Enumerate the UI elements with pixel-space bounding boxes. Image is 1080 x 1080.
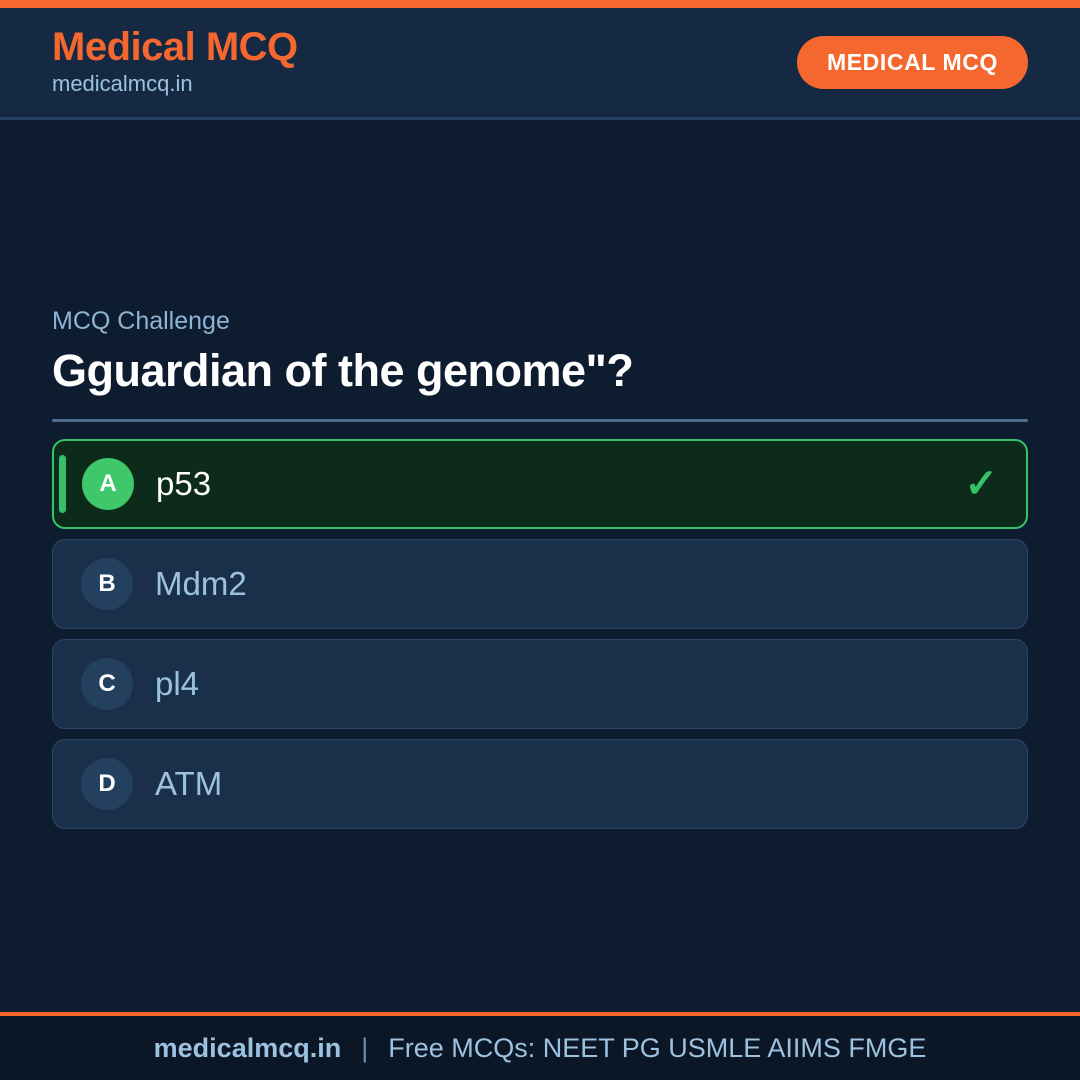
- option-text: p53: [156, 464, 211, 504]
- footer-separator: |: [361, 1033, 368, 1064]
- top-accent-rule: [0, 0, 1080, 8]
- option-letter-badge: B: [81, 558, 133, 610]
- option-letter-badge: C: [81, 658, 133, 710]
- option-text: Mdm2: [155, 564, 247, 604]
- brand-logo: Medical MCQ medicalmcq.in: [52, 26, 298, 99]
- option-text: pl4: [155, 664, 199, 704]
- option-a[interactable]: A p53 ✓: [52, 439, 1028, 529]
- brand-title: Medical MCQ: [52, 26, 298, 68]
- footer-exams: Free MCQs: NEET PG USMLE AIIMS FMGE: [388, 1033, 926, 1064]
- option-c[interactable]: C pl4 ✓: [52, 639, 1028, 729]
- correct-accent-bar: [59, 455, 66, 513]
- question-title: Gguardian of the genome"?: [52, 344, 1028, 397]
- option-b[interactable]: B Mdm2 ✓: [52, 539, 1028, 629]
- check-icon: ✓: [964, 464, 998, 504]
- options-list: A p53 ✓ B Mdm2 ✓ C pl4 ✓ D ATM ✓: [52, 439, 1028, 829]
- page-footer: medicalmcq.in | Free MCQs: NEET PG USMLE…: [0, 1012, 1080, 1080]
- question-stage: MCQ Challenge Gguardian of the genome"? …: [0, 123, 1080, 1012]
- eyebrow-label: MCQ Challenge: [52, 306, 1028, 337]
- page-header: Medical MCQ medicalmcq.in MEDICAL MCQ: [0, 8, 1080, 120]
- brand-url: medicalmcq.in: [52, 70, 298, 99]
- footer-site: medicalmcq.in: [154, 1033, 342, 1064]
- header-badge: MEDICAL MCQ: [797, 36, 1028, 89]
- option-letter-badge: D: [81, 758, 133, 810]
- option-d[interactable]: D ATM ✓: [52, 739, 1028, 829]
- option-text: ATM: [155, 764, 222, 804]
- option-letter-badge: A: [82, 458, 134, 510]
- question-divider: [52, 419, 1028, 422]
